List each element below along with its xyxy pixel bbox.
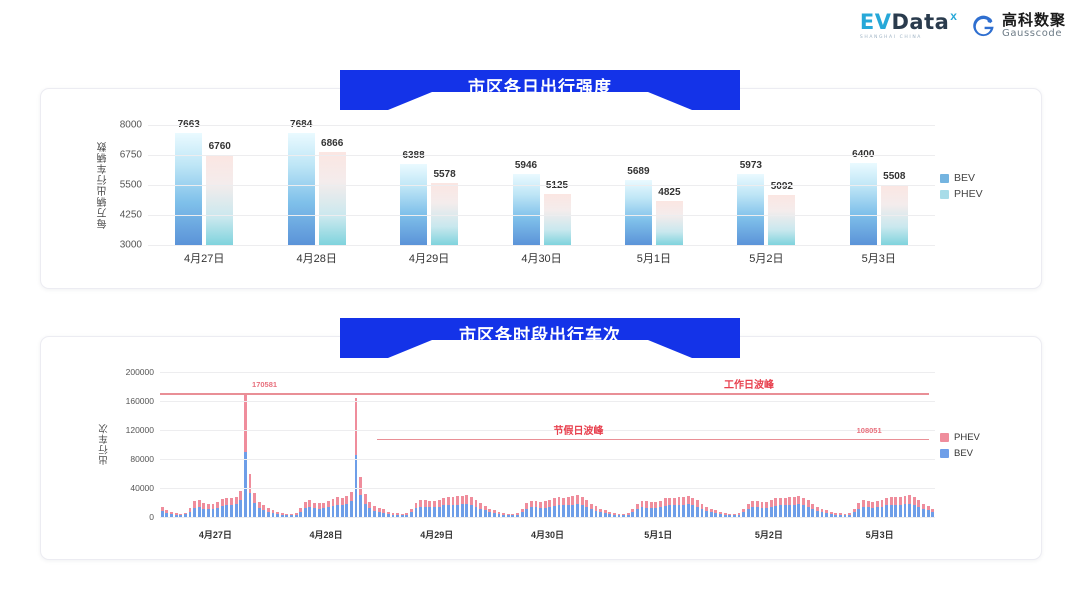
chart2-segment-bev: [797, 504, 800, 517]
chart2-gridline: [160, 401, 935, 402]
chart2-y-tick: 200000: [98, 367, 154, 377]
chart2-stacked-bar[interactable]: [761, 502, 764, 517]
chart2-segment-phev: [894, 497, 897, 505]
chart2-stacked-bar[interactable]: [442, 498, 445, 517]
chart2-segment-bev: [433, 507, 436, 517]
chart2-stacked-bar[interactable]: [230, 498, 233, 517]
chart2-segment-bev: [668, 505, 671, 517]
chart2-segment-bev: [368, 508, 371, 517]
chart2-stacked-bar[interactable]: [521, 509, 524, 517]
evdata-text: EVData: [860, 12, 949, 33]
chart1-gridline: [148, 215, 935, 216]
chart2-segment-bev: [645, 508, 648, 517]
chart2-segment-bev: [359, 495, 362, 517]
chart2-stacked-bar[interactable]: [631, 509, 634, 517]
chart2-stacked-bar[interactable]: [894, 497, 897, 517]
chart2-segment-phev: [239, 491, 242, 501]
chart2-stacked-bar[interactable]: [544, 501, 547, 517]
chart2-y-tick: 160000: [98, 396, 154, 406]
chart2-segment-bev: [465, 504, 468, 517]
chart2-y-axis-label: 出行车次: [98, 392, 112, 497]
evdata-superscript-icon: x: [950, 9, 957, 23]
chart2-stacked-bar[interactable]: [922, 504, 925, 517]
chart1-bar-value: 5946: [515, 160, 537, 171]
chart2-segment-bev: [678, 505, 681, 517]
chart2-stacked-bar[interactable]: [811, 504, 814, 517]
chart1-bar-phev[interactable]: 4825: [656, 201, 683, 245]
chart2-segment-bev: [567, 505, 570, 517]
chart2-stacked-bar[interactable]: [821, 509, 824, 517]
chart1-gridline: [148, 155, 935, 156]
chart2-stacked-bar[interactable]: [447, 497, 450, 517]
chart2-segment-bev: [249, 493, 252, 517]
gausscode-mark-icon: [971, 14, 996, 39]
chart2-stacked-bar[interactable]: [525, 503, 528, 517]
chart2-segment-phev: [452, 497, 455, 505]
chart2-stacked-bar[interactable]: [336, 497, 339, 517]
chart2-segment-phev: [774, 498, 777, 505]
chart2-segment-phev: [308, 500, 311, 507]
chart2-stacked-bar[interactable]: [604, 510, 607, 517]
chart2-stacked-bar[interactable]: [433, 501, 436, 517]
chart2-segment-phev: [475, 500, 478, 507]
chart1-bar-bev[interactable]: 7684: [288, 133, 315, 245]
chart2-segment-phev: [585, 500, 588, 507]
chart2-stacked-bar[interactable]: [193, 501, 196, 517]
chart2-segment-bev: [225, 505, 228, 517]
chart2-stacked-bar[interactable]: [751, 501, 754, 517]
chart2-segment-bev: [313, 508, 316, 517]
chart2-segment-bev: [438, 507, 441, 517]
chart2-segment-bev: [216, 508, 219, 517]
chart2-y-tick: 40000: [98, 483, 154, 493]
chart2-stacked-bar[interactable]: [701, 504, 704, 517]
chart2-stacked-bar[interactable]: [299, 508, 302, 517]
chart2-stacked-bar[interactable]: [673, 498, 676, 517]
chart1-x-tick: 4月29日: [409, 250, 449, 266]
chart2-stacked-bar[interactable]: [424, 500, 427, 517]
chart2-stacked-bar[interactable]: [816, 507, 819, 517]
chart2-segment-bev: [558, 505, 561, 517]
chart1-bar-value: 4825: [658, 187, 680, 198]
chart2-stacked-bar[interactable]: [793, 497, 796, 517]
chart2-segment-bev: [221, 506, 224, 517]
chart2-stacked-bar[interactable]: [244, 394, 247, 517]
gausscode-text: 高科数聚 Gausscode: [1002, 13, 1066, 39]
chart2-stacked-bar[interactable]: [535, 501, 538, 517]
chart2-stacked-bar[interactable]: [687, 496, 690, 517]
chart2-segment-bev: [770, 507, 773, 517]
chart2-stacked-bar[interactable]: [664, 498, 667, 517]
chart1-x-tick: 5月1日: [637, 250, 671, 266]
chart2-segment-bev: [571, 505, 574, 517]
chart-daily-intensity: 每万辆出行车辆数 7663676076846866638855785946512…: [100, 125, 935, 245]
chart2-segment-phev: [470, 497, 473, 505]
chart2-segment-bev: [336, 505, 339, 517]
chart2-stacked-bar[interactable]: [415, 503, 418, 517]
gausscode-cn: 高科数聚: [1002, 13, 1066, 29]
chart2-stacked-bar[interactable]: [355, 398, 358, 517]
chart2-stacked-bar[interactable]: [908, 495, 911, 517]
chart2-stacked-bar[interactable]: [304, 502, 307, 517]
chart2-stacked-bar[interactable]: [327, 501, 330, 517]
chart2-stacked-bar[interactable]: [438, 500, 441, 517]
chart2-stacked-bar[interactable]: [899, 497, 902, 517]
chart2-segment-phev: [253, 493, 256, 503]
chart2-segment-phev: [447, 497, 450, 505]
chart2-segment-phev: [225, 498, 228, 505]
chart2-segment-bev: [548, 507, 551, 517]
chart2-stacked-bar[interactable]: [267, 508, 270, 517]
logo-group: EVData x SHANGHAI CHINA 高科数聚 Gausscode: [860, 12, 1066, 40]
chart2-stacked-bar[interactable]: [235, 497, 238, 517]
chart2-stacked-bar[interactable]: [382, 509, 385, 517]
chart2-segment-bev: [470, 505, 473, 517]
chart2-stacked-bar[interactable]: [465, 495, 468, 517]
chart2-stacked-bar[interactable]: [308, 500, 311, 517]
chart2-stacked-bar[interactable]: [904, 496, 907, 517]
chart2-segment-bev: [908, 504, 911, 517]
chart2-segment-phev: [341, 498, 344, 505]
chart2-segment-bev: [525, 509, 528, 517]
chart2-segment-bev: [691, 505, 694, 517]
chart1-x-tick: 5月3日: [862, 250, 896, 266]
chart2-stacked-bar[interactable]: [461, 496, 464, 517]
chart1-bar-bev[interactable]: 6388: [400, 164, 427, 245]
chart2-stacked-bar[interactable]: [272, 510, 275, 517]
chart2-stacked-bar[interactable]: [917, 500, 920, 517]
chart1-bar-value: 6760: [209, 141, 231, 152]
chart2-segment-phev: [350, 492, 353, 501]
chart2-stacked-bar[interactable]: [765, 502, 768, 518]
chart2-segment-bev: [811, 509, 814, 517]
chart2-stacked-bar[interactable]: [479, 503, 482, 517]
chart2-stacked-bar[interactable]: [788, 497, 791, 517]
chart1-y-tick: 4250: [98, 210, 142, 221]
chart2-legend-swatch: [940, 433, 949, 442]
evdata-ev: EV: [860, 10, 892, 34]
chart2-segment-bev: [442, 505, 445, 517]
chart2-segment-bev: [913, 505, 916, 517]
chart2-stacked-bar[interactable]: [341, 498, 344, 517]
chart2-segment-bev: [904, 504, 907, 517]
chart1-bar-bev[interactable]: 5689: [625, 180, 652, 245]
chart2-segment-phev: [249, 474, 252, 493]
chart2-stacked-bar[interactable]: [636, 504, 639, 517]
chart2-segment-phev: [770, 500, 773, 507]
chart2-stacked-bar[interactable]: [262, 505, 265, 517]
chart2-segment-phev: [345, 496, 348, 504]
chart2-stacked-bar[interactable]: [456, 496, 459, 517]
chart2-stacked-bar[interactable]: [253, 493, 256, 517]
chart2-segment-bev: [253, 503, 256, 517]
chart1-bar-bev[interactable]: 7663: [175, 133, 202, 245]
chart2-stacked-bar[interactable]: [885, 498, 888, 517]
chart2-stacked-bar[interactable]: [659, 501, 662, 517]
chart2-stacked-bar[interactable]: [784, 498, 787, 517]
chart1-bar-value: 5578: [433, 169, 455, 180]
chart2-segment-phev: [696, 500, 699, 507]
chart2-stacked-bar[interactable]: [318, 503, 321, 517]
chart2-y-tick: 0: [98, 512, 154, 522]
chart2-stacked-bar[interactable]: [548, 500, 551, 517]
chart2-stacked-bar[interactable]: [890, 497, 893, 517]
chart2-segment-phev: [571, 496, 574, 504]
chart2-weekday-peak-label: 工作日波峰: [724, 376, 774, 391]
chart2-stacked-bar[interactable]: [742, 509, 745, 517]
chart2-stacked-bar[interactable]: [225, 498, 228, 517]
chart2-segment-phev: [687, 496, 690, 504]
chart2-segment-phev: [904, 496, 907, 504]
chart2-stacked-bar[interactable]: [807, 500, 810, 517]
chart2-segment-bev: [807, 507, 810, 517]
chart2-stacked-bar[interactable]: [576, 495, 579, 517]
chart2-stacked-bar[interactable]: [165, 510, 168, 517]
chart2-segment-bev: [322, 508, 325, 517]
page-header: EVData x SHANGHAI CHINA 高科数聚 Gausscode: [0, 0, 1080, 58]
chart1-bar-value: 5973: [740, 160, 762, 171]
chart2-segment-bev: [650, 508, 653, 517]
chart2-stacked-bar[interactable]: [562, 498, 565, 517]
chart2-segment-phev: [581, 497, 584, 505]
chart2-segment-bev: [682, 505, 685, 517]
chart2-segment-phev: [244, 394, 247, 453]
gausscode-logo: 高科数聚 Gausscode: [971, 13, 1066, 39]
chart2-legend-item-bev[interactable]: BEV: [940, 448, 980, 459]
chart2-segment-phev: [802, 498, 805, 506]
chart1-x-axis: 4月27日4月28日4月29日4月30日5月1日5月2日5月3日: [148, 250, 935, 264]
chart1-bar-phev[interactable]: 6760: [206, 155, 233, 245]
chart2-segment-phev: [230, 498, 233, 505]
chart2-stacked-bar[interactable]: [202, 503, 205, 517]
chart2-stacked-bar[interactable]: [853, 509, 856, 517]
chart2-stacked-bar[interactable]: [452, 497, 455, 517]
chart2-stacked-bar[interactable]: [696, 500, 699, 517]
chart1-bar-phev[interactable]: 5125: [544, 194, 571, 245]
chart2-segment-phev: [221, 499, 224, 506]
chart2-segment-phev: [576, 495, 579, 504]
chart2-x-tick: 4月28日: [310, 528, 343, 541]
chart2-stacked-bar[interactable]: [258, 502, 261, 517]
chart2-segment-phev: [465, 495, 468, 504]
chart2-stacked-bar[interactable]: [368, 502, 371, 517]
chart2-stacked-bar[interactable]: [581, 497, 584, 517]
chart2-stacked-bar[interactable]: [770, 500, 773, 517]
chart2-stacked-bar[interactable]: [530, 501, 533, 517]
chart2-stacked-bar[interactable]: [539, 502, 542, 517]
chart2-segment-phev: [881, 500, 884, 507]
chart2-segment-bev: [308, 507, 311, 518]
chart2-segment-bev: [304, 508, 307, 517]
chart2-segment-phev: [913, 497, 916, 505]
chart2-segment-bev: [784, 505, 787, 517]
chart2-segment-phev: [553, 498, 556, 506]
chart2-segment-bev: [230, 505, 233, 517]
chart2-stacked-bar[interactable]: [857, 503, 860, 517]
chart1-gridline: [148, 245, 935, 246]
chart2-stacked-bar[interactable]: [871, 502, 874, 518]
chart2-stacked-bar[interactable]: [705, 507, 708, 517]
chart2-gridline: [160, 459, 935, 460]
chart2-segment-bev: [318, 509, 321, 517]
chart2-segment-phev: [678, 497, 681, 505]
chart2-segment-bev: [239, 500, 242, 517]
chart2-stacked-bar[interactable]: [345, 496, 348, 517]
chart2-stacked-bar[interactable]: [641, 501, 644, 517]
chart2-stacked-bar[interactable]: [710, 509, 713, 517]
chart2-stacked-bar[interactable]: [493, 510, 496, 517]
chart2-gridline: [160, 488, 935, 489]
chart2-stacked-bar[interactable]: [488, 509, 491, 517]
chart2-stacked-bar[interactable]: [774, 498, 777, 517]
chart2-segment-bev: [341, 505, 344, 517]
chart2-segment-bev: [664, 506, 667, 517]
chart2-segment-bev: [456, 505, 459, 517]
chart2-stacked-bar[interactable]: [558, 497, 561, 517]
chart2-stacked-bar[interactable]: [419, 500, 422, 517]
chart2-stacked-bar[interactable]: [654, 502, 657, 517]
chart2-segment-phev: [364, 494, 367, 504]
chart2-stacked-bar[interactable]: [571, 496, 574, 517]
chart2-weekday-peak-line: [160, 393, 929, 394]
chart2-segment-bev: [654, 508, 657, 517]
chart2-gridline: [160, 372, 935, 373]
chart2-stacked-bar[interactable]: [590, 504, 593, 517]
chart2-segment-bev: [345, 504, 348, 517]
chart2-stacked-bar[interactable]: [475, 500, 478, 517]
chart2-stacked-bar[interactable]: [567, 497, 570, 517]
chart1-y-tick: 5500: [98, 180, 142, 191]
chart2-stacked-bar[interactable]: [207, 504, 210, 517]
chart2-segment-bev: [235, 504, 238, 517]
chart-hourly-trips: 出行车次 04000080000120000160000200000工作日波峰1…: [100, 372, 935, 517]
chart2-stacked-bar[interactable]: [198, 500, 201, 517]
chart2-segment-phev: [336, 497, 339, 505]
chart2-stacked-bar[interactable]: [691, 498, 694, 517]
chart2-segment-bev: [535, 507, 538, 517]
chart2-x-tick: 5月2日: [755, 528, 783, 541]
chart2-stacked-bar[interactable]: [378, 508, 381, 517]
chart2-stacked-bar[interactable]: [668, 498, 671, 517]
chart2-stacked-bar[interactable]: [212, 504, 215, 517]
chart1-legend-item-bev[interactable]: BEV: [940, 172, 983, 184]
chart2-stacked-bar[interactable]: [881, 500, 884, 517]
chart2-segment-phev: [899, 497, 902, 505]
chart1-legend-item-phev[interactable]: PHEV: [940, 188, 983, 200]
chart2-stacked-bar[interactable]: [221, 499, 224, 517]
chart2-segment-bev: [212, 509, 215, 517]
chart2-segment-phev: [890, 497, 893, 505]
chart2-segment-bev: [452, 505, 455, 517]
chart1-bar-phev[interactable]: 6866: [319, 152, 346, 245]
chart2-stacked-bar[interactable]: [645, 501, 648, 517]
chart2-stacked-bar[interactable]: [359, 477, 362, 517]
chart2-segment-phev: [673, 498, 676, 506]
chart1-bar-group: 76846866: [288, 133, 346, 245]
chart2-segment-phev: [456, 496, 459, 504]
chart2-stacked-bar[interactable]: [585, 500, 588, 517]
chart2-stacked-bar[interactable]: [862, 500, 865, 517]
chart2-stacked-bar[interactable]: [332, 499, 335, 517]
chart2-stacked-bar[interactable]: [650, 502, 653, 517]
chart2-holiday-peak-label: 节假日波峰: [554, 422, 604, 437]
chart2-stacked-bar[interactable]: [678, 497, 681, 517]
chart2-stacked-bar[interactable]: [931, 509, 934, 517]
chart1-bar-value: 6866: [321, 138, 343, 149]
chart1-bar-phev[interactable]: 5092: [768, 195, 795, 245]
chart1-bar-bev[interactable]: 6400: [850, 163, 877, 245]
chart2-stacked-bar[interactable]: [216, 502, 219, 517]
chart2-segment-bev: [207, 509, 210, 517]
chart1-bar-group: 63885578: [400, 164, 458, 245]
chart2-segment-bev: [867, 507, 870, 517]
chart2-stacked-bar[interactable]: [161, 507, 164, 517]
chart2-stacked-bar[interactable]: [913, 497, 916, 517]
chart2-segment-phev: [784, 498, 787, 506]
chart2-stacked-bar[interactable]: [595, 506, 598, 517]
chart2-stacked-bar[interactable]: [484, 506, 487, 517]
chart2-stacked-bar[interactable]: [802, 498, 805, 518]
chart1-bar-group: 64005508: [850, 163, 908, 245]
chart2-stacked-bar[interactable]: [322, 503, 325, 517]
chart2-stacked-bar[interactable]: [313, 503, 316, 518]
chart2-segment-bev: [774, 506, 777, 517]
chart2-stacked-bar[interactable]: [714, 510, 717, 517]
chart2-segment-phev: [359, 477, 362, 494]
chart2-stacked-bar[interactable]: [682, 497, 685, 517]
chart2-weekday-peak-value: 170581: [252, 380, 277, 389]
chart2-segment-bev: [673, 505, 676, 517]
chart2-segment-phev: [355, 398, 358, 455]
chart2-segment-bev: [756, 507, 759, 517]
chart2-stacked-bar[interactable]: [364, 494, 367, 517]
chart2-stacked-bar[interactable]: [927, 506, 930, 517]
chart2-segment-bev: [581, 505, 584, 517]
chart2-stacked-bar[interactable]: [373, 506, 376, 517]
chart2-stacked-bar[interactable]: [350, 492, 353, 517]
chart2-stacked-bar[interactable]: [797, 496, 800, 517]
chart2-segment-bev: [576, 504, 579, 517]
chart2-segment-bev: [779, 505, 782, 517]
chart2-stacked-bar[interactable]: [876, 501, 879, 517]
chart2-stacked-bar[interactable]: [428, 501, 431, 517]
chart1-bar-value: 5689: [627, 166, 649, 177]
chart2-segment-bev: [258, 508, 261, 517]
chart2-stacked-bar[interactable]: [553, 498, 556, 517]
evdata-data: Data: [891, 10, 949, 34]
chart2-x-tick: 5月1日: [644, 528, 672, 541]
chart2-stacked-bar[interactable]: [825, 510, 828, 517]
chart2-legend-item-phev[interactable]: PHEV: [940, 432, 980, 443]
chart2-segment-phev: [793, 497, 796, 505]
chart2-y-tick: 120000: [98, 425, 154, 435]
chart2-stacked-bar[interactable]: [410, 509, 413, 517]
chart2-stacked-bar[interactable]: [867, 501, 870, 517]
chart2-stacked-bar[interactable]: [779, 498, 782, 518]
chart2-stacked-bar[interactable]: [249, 474, 252, 517]
chart2-stacked-bar[interactable]: [747, 504, 750, 517]
chart2-segment-phev: [807, 500, 810, 507]
chart2-segment-bev: [479, 509, 482, 517]
chart2-stacked-bar[interactable]: [470, 497, 473, 517]
chart2-segment-bev: [659, 507, 662, 517]
chart2-segment-phev: [332, 499, 335, 506]
chart2-segment-phev: [908, 495, 911, 504]
chart2-stacked-bar[interactable]: [189, 508, 192, 517]
chart2-stacked-bar[interactable]: [239, 491, 242, 517]
chart2-stacked-bar[interactable]: [756, 501, 759, 517]
chart2-stacked-bar[interactable]: [599, 509, 602, 517]
